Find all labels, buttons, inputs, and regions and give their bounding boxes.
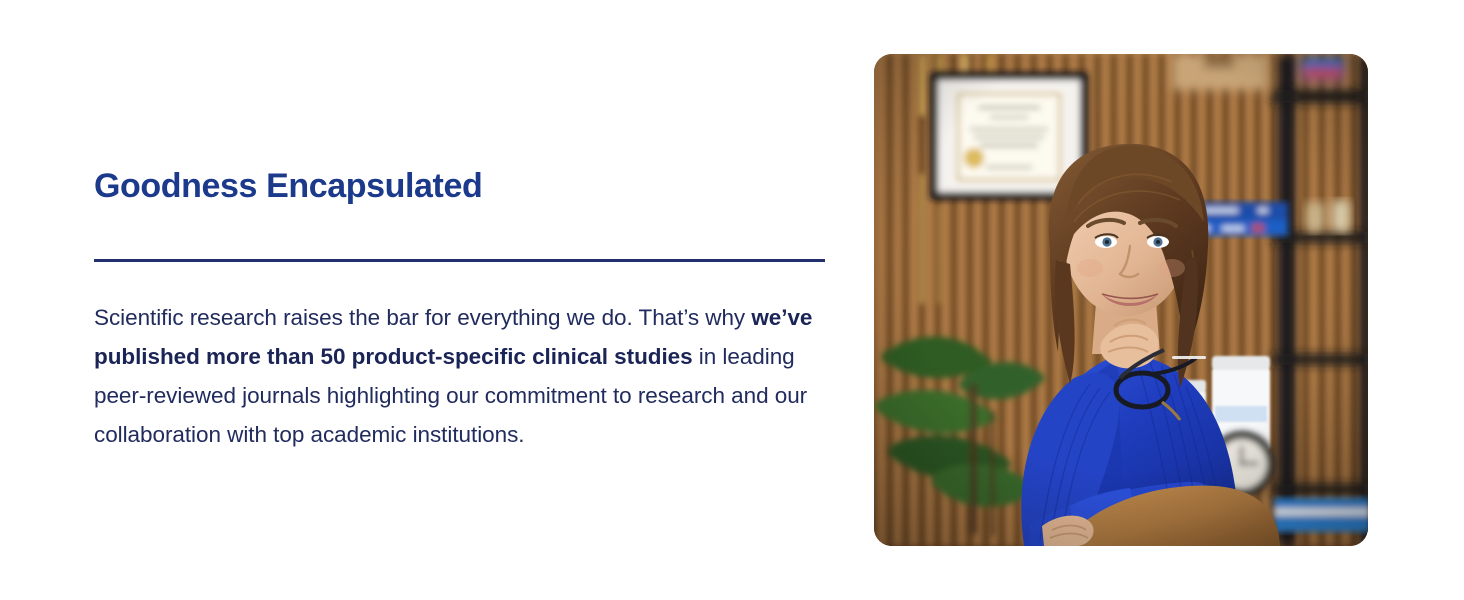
- divider: [94, 259, 825, 262]
- body-paragraph: Scientific research raises the bar for e…: [94, 298, 834, 454]
- text-column: Goodness Encapsulated Scientific researc…: [94, 0, 834, 600]
- portrait-photo: [874, 54, 1368, 546]
- promo-banner: Goodness Encapsulated Scientific researc…: [0, 0, 1464, 600]
- portrait-photo-illustration: [874, 54, 1368, 546]
- body-lead-text: Scientific research raises the bar for e…: [94, 305, 751, 330]
- page-title: Goodness Encapsulated: [94, 168, 482, 205]
